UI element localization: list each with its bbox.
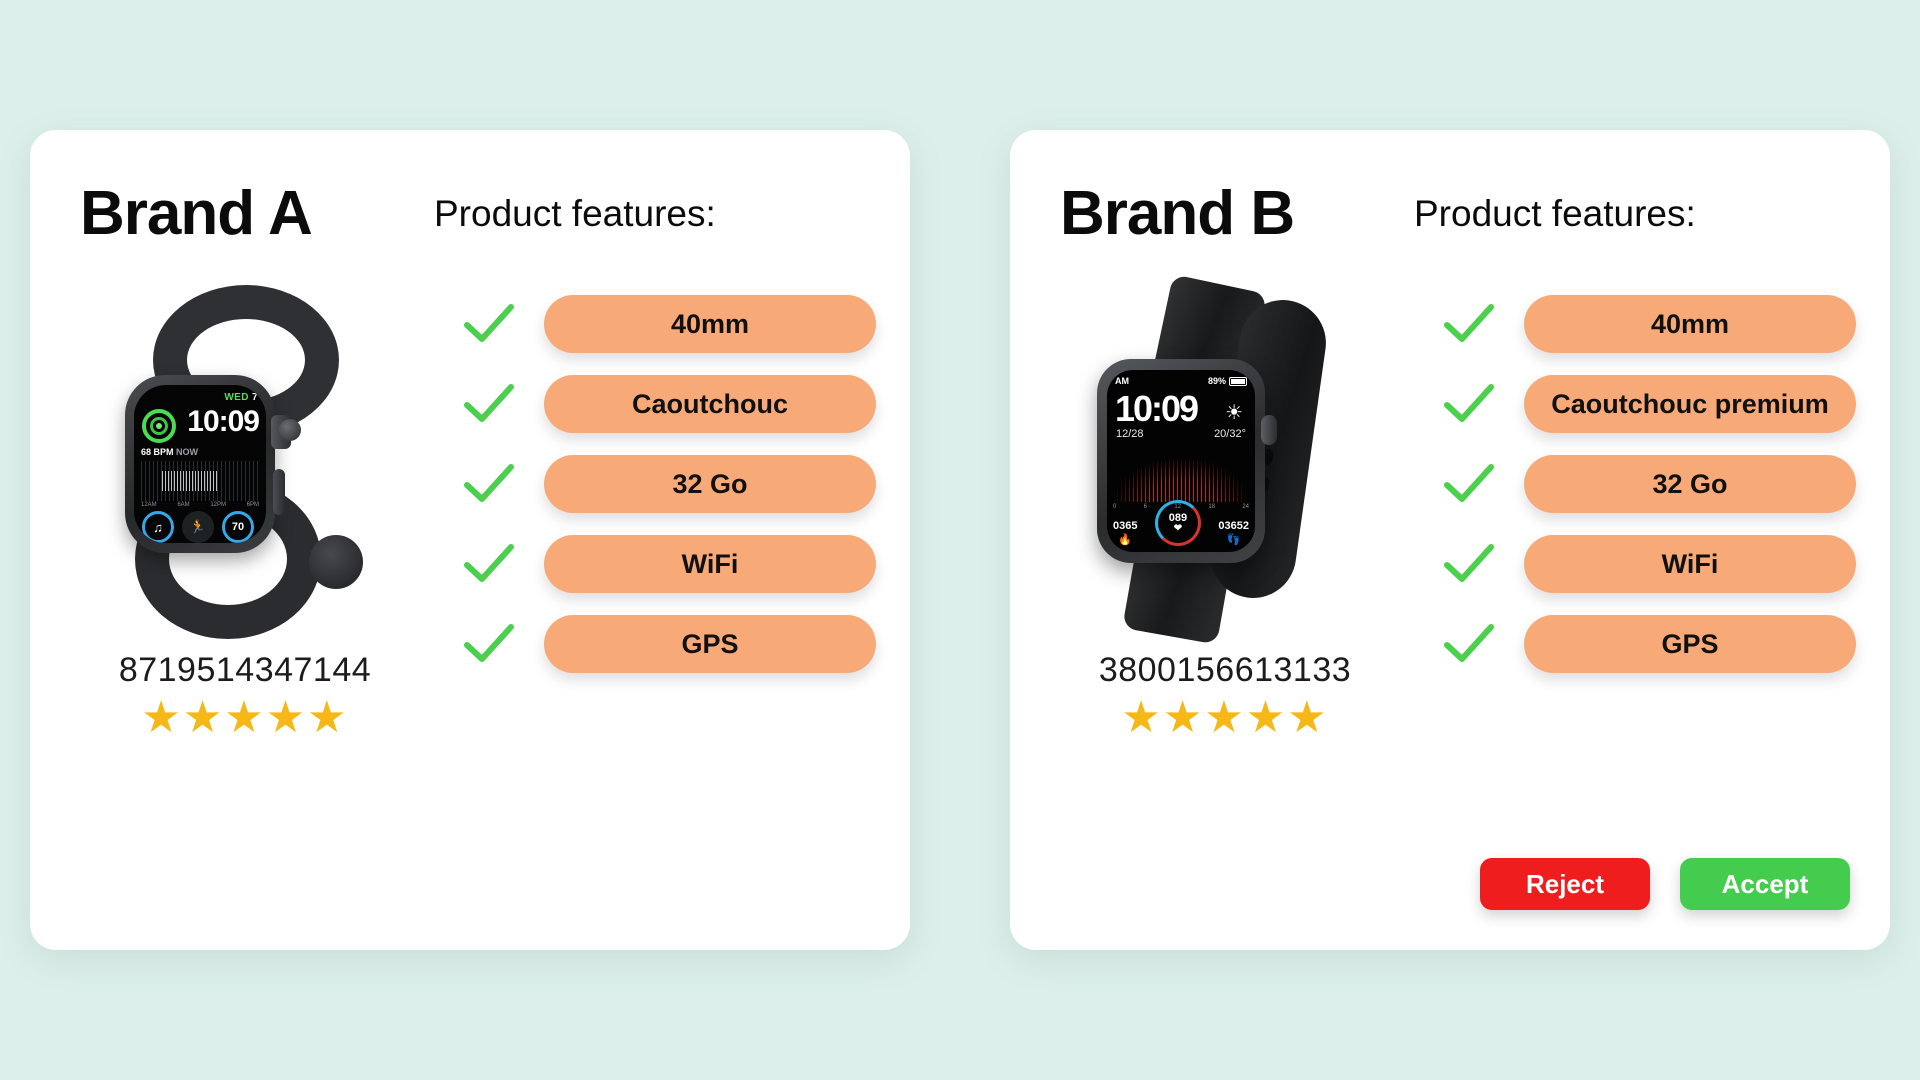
feature-pill: 32 Go: [544, 455, 876, 513]
card-header-a: Brand A Product features:: [30, 130, 910, 249]
axis-tick: 6AM: [177, 502, 189, 508]
axis-tick: 6PM: [247, 502, 259, 508]
watch-subline: 12/28 20/32°: [1116, 428, 1246, 440]
battery-icon: [1229, 377, 1247, 386]
watch-case: WED 7 10:09 68 BPM NOW: [125, 375, 275, 553]
rating-stars-a: ★★★★★: [141, 696, 348, 740]
battery-indicator: 89%: [1208, 376, 1247, 386]
heart-rate-axis: 12AM 6AM 12PM 6PM: [141, 502, 259, 508]
check-icon: [460, 540, 518, 588]
feature-row: 40mm: [1440, 293, 1856, 355]
feature-pill: Caoutchouc premium: [1524, 375, 1856, 433]
workout-icon: 🏃: [182, 511, 214, 543]
steps-metric: 03652 👣: [1218, 520, 1249, 546]
watch-band-hole: [309, 535, 363, 589]
check-icon: [460, 460, 518, 508]
watch-date: 12/28: [1116, 428, 1144, 440]
feature-pill: 40mm: [1524, 295, 1856, 353]
calories-value: 0365: [1113, 520, 1137, 532]
decision-actions: Reject Accept: [1480, 858, 1850, 910]
feature-row: GPS: [460, 613, 876, 675]
card-header-b: Brand B Product features:: [1010, 130, 1890, 249]
footsteps-icon: 👣: [1218, 533, 1249, 546]
axis-tick: 12PM: [210, 502, 226, 508]
feature-pill: GPS: [1524, 615, 1856, 673]
brand-title-b: Brand B: [1060, 178, 1390, 249]
card-body-b: AM 89% 10:09 ☀ 12/28: [1010, 249, 1890, 889]
apple-watch-illustration: WED 7 10:09 68 BPM NOW: [95, 283, 395, 623]
meridiem-label: AM: [1115, 376, 1129, 386]
watch-metrics: 0365 🔥 089 ❤ 03652 👣: [1113, 500, 1249, 546]
watch-time: 10:09: [1115, 388, 1197, 430]
watch-time: 10:09: [187, 405, 259, 439]
feature-row: WiFi: [1440, 533, 1856, 595]
watch-crown-button: [1261, 415, 1277, 445]
music-icon: ♫: [142, 511, 174, 543]
check-icon: [460, 620, 518, 668]
watch-complications: ♫ 🏃 70: [142, 511, 254, 543]
watch-day-label: WED: [224, 392, 249, 403]
check-icon: [1440, 620, 1498, 668]
feature-row: Caoutchouc: [460, 373, 876, 435]
activity-rings-icon: [142, 409, 176, 443]
feature-pill: WiFi: [1524, 535, 1856, 593]
watch-temperature: 20/32°: [1214, 428, 1246, 440]
card-body-a: WED 7 10:09 68 BPM NOW: [30, 249, 910, 889]
battery-percent: 89%: [1208, 376, 1226, 386]
feature-row: 32 Go: [1440, 453, 1856, 515]
watch-date: WED 7: [224, 392, 258, 403]
watch-case: AM 89% 10:09 ☀ 12/28: [1097, 359, 1265, 563]
feature-pill: 40mm: [544, 295, 876, 353]
features-list-a: 40mm Caoutchouc 32 Go: [460, 249, 876, 889]
digital-crown-icon: [271, 415, 291, 449]
product-card-brand-a: Brand A Product features: WED 7: [30, 130, 910, 950]
watch-date-number: 7: [252, 392, 258, 403]
brand-title-a: Brand A: [80, 178, 410, 249]
watch-screen: AM 89% 10:09 ☀ 12/28: [1107, 370, 1255, 552]
heart-rate-complication: 70: [222, 511, 254, 543]
features-heading-a: Product features:: [434, 193, 716, 235]
check-icon: [460, 300, 518, 348]
product-column-a: WED 7 10:09 68 BPM NOW: [30, 249, 460, 889]
feature-pill: GPS: [544, 615, 876, 673]
heart-rate-ring: 089 ❤: [1155, 500, 1201, 546]
watch-status-bar: AM 89%: [1115, 376, 1247, 386]
bpm-value: 68 BPM: [141, 447, 174, 457]
product-image-b: AM 89% 10:09 ☀ 12/28: [1060, 273, 1390, 633]
check-icon: [460, 380, 518, 428]
rating-stars-b: ★★★★★: [1121, 696, 1328, 740]
feature-row: WiFi: [460, 533, 876, 595]
steps-value: 03652: [1218, 520, 1249, 532]
calories-metric: 0365 🔥: [1113, 520, 1137, 546]
features-list-b: 40mm Caoutchouc premium 32 Go: [1440, 249, 1856, 889]
product-image-a: WED 7 10:09 68 BPM NOW: [80, 273, 410, 633]
feature-pill: Caoutchouc: [544, 375, 876, 433]
axis-tick: 12AM: [141, 502, 157, 508]
activity-chart: [1113, 450, 1249, 502]
check-icon: [1440, 300, 1498, 348]
side-button-icon: [273, 469, 285, 515]
product-column-b: AM 89% 10:09 ☀ 12/28: [1010, 249, 1440, 889]
features-heading-b: Product features:: [1414, 193, 1696, 235]
product-barcode-b: 3800156613133: [1099, 651, 1351, 690]
heart-rate-value: 70: [232, 521, 244, 533]
check-icon: [1440, 460, 1498, 508]
feature-row: Caoutchouc premium: [1440, 373, 1856, 435]
check-icon: [1440, 380, 1498, 428]
feature-row: 40mm: [460, 293, 876, 355]
bpm-suffix: NOW: [176, 447, 198, 457]
feature-row: GPS: [1440, 613, 1856, 675]
accept-button[interactable]: Accept: [1680, 858, 1850, 910]
heart-rate-graph: [141, 461, 259, 501]
feature-pill: WiFi: [544, 535, 876, 593]
flame-icon: 🔥: [1113, 533, 1137, 546]
square-smartwatch-illustration: AM 89% 10:09 ☀ 12/28: [1075, 283, 1375, 623]
watch-bpm: 68 BPM NOW: [141, 447, 198, 457]
heart-icon: ❤: [1174, 524, 1182, 534]
reject-button[interactable]: Reject: [1480, 858, 1650, 910]
comparison-stage: Brand A Product features: WED 7: [0, 0, 1920, 1080]
feature-pill: 32 Go: [1524, 455, 1856, 513]
feature-row: 32 Go: [460, 453, 876, 515]
watch-screen: WED 7 10:09 68 BPM NOW: [134, 385, 266, 543]
product-barcode-a: 8719514347144: [119, 651, 371, 690]
product-card-brand-b: Brand B Product features:: [1010, 130, 1890, 950]
check-icon: [1440, 540, 1498, 588]
weather-sun-icon: ☀: [1225, 400, 1243, 425]
